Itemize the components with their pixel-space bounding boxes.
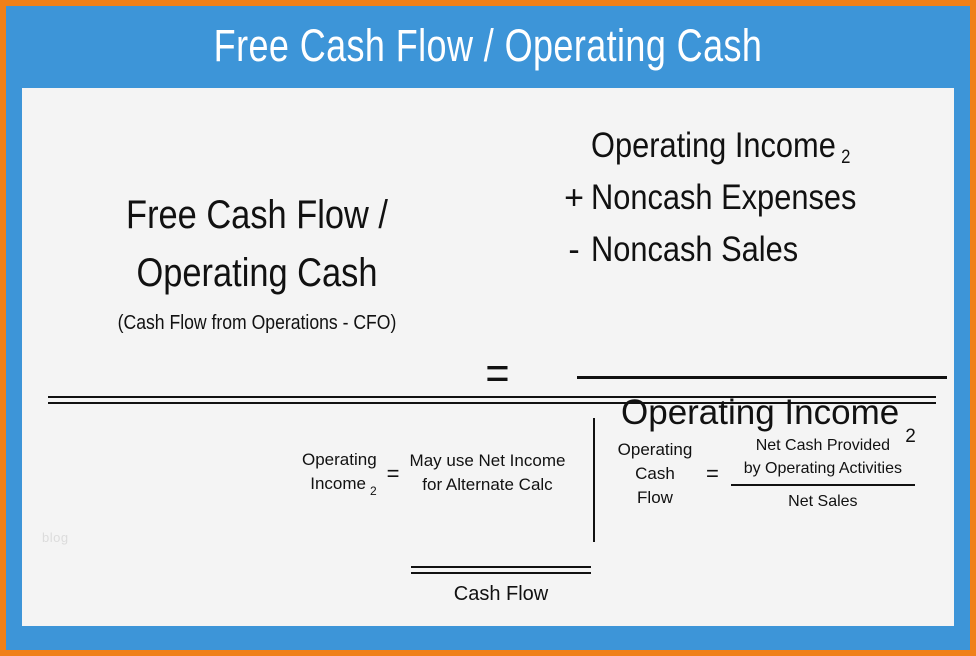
left-label-subtitle: (Cash Flow from Operations - CFO) — [50, 308, 464, 338]
note-operating-cash-flow: Operating Cash Flow = Net Cash Provided … — [616, 434, 915, 513]
note-right-lhs-line3: Flow — [616, 486, 694, 510]
note-left-lhs: Operating Income2 — [302, 448, 377, 497]
note-left-equals-sign: = — [377, 461, 410, 487]
numerator-term: Noncash Expenses — [591, 178, 856, 218]
note-left-rhs-line2: for Alternate Calc — [410, 473, 566, 497]
formula-left-label: Free Cash Flow / Operating Cash (Cash Fl… — [22, 186, 492, 338]
note-left-lhs-line2: Income2 — [302, 472, 377, 497]
note-operating-income: Operating Income2 = May use Net Income f… — [302, 448, 565, 497]
note-right-numerator-line2: by Operating Activities — [731, 457, 915, 480]
note-right-numerator-line1: Net Cash Provided — [731, 434, 915, 457]
note-left-rhs-line1: May use Net Income — [410, 449, 566, 473]
bottom-cash-flow-label: Cash Flow — [411, 580, 591, 608]
blue-frame: Free Cash Flow / Operating Cash Free Cas… — [6, 6, 970, 650]
notes-vertical-divider — [593, 418, 595, 542]
bottom-line-bottom — [411, 572, 591, 574]
main-equals-sign: = — [485, 350, 509, 396]
numerator-row: + Noncash Expenses — [557, 178, 954, 230]
numerator-operator: - — [557, 231, 591, 270]
formula-card: Free Cash Flow / Operating Cash (Cash Fl… — [22, 88, 954, 626]
note-right-lhs: Operating Cash Flow — [616, 438, 694, 510]
note-left-rhs: May use Net Income for Alternate Calc — [410, 449, 566, 497]
section-divider — [48, 396, 936, 404]
note-left-lhs-subscript: 2 — [366, 484, 377, 498]
numerator-term: Operating Income2 — [591, 126, 850, 166]
numerator-row: Operating Income2 — [557, 126, 954, 178]
numerator-subscript: 2 — [836, 147, 851, 168]
poster-frame: Free Cash Flow / Operating Cash Free Cas… — [0, 0, 976, 656]
numerator-operator: + — [557, 179, 591, 218]
watermark: blog — [42, 530, 69, 545]
left-label-line2: Operating Cash — [55, 244, 459, 302]
note-right-equals-sign: = — [694, 461, 731, 487]
note-right-fraction-bar — [731, 484, 915, 486]
numerator-row: - Noncash Sales — [557, 230, 954, 282]
note-right-lhs-line1: Operating — [616, 438, 694, 462]
main-fraction-numerator: Operating Income2 + Noncash Expenses - N… — [557, 126, 954, 282]
note-left-lhs-line1: Operating — [302, 448, 377, 472]
note-right-lhs-line2: Cash — [616, 462, 694, 486]
note-right-denominator: Net Sales — [731, 490, 915, 513]
notes-section: Operating Income2 = May use Net Income f… — [22, 410, 954, 626]
bottom-cash-flow-block: Cash Flow — [411, 566, 591, 608]
note-right-fraction: Net Cash Provided by Operating Activitie… — [731, 434, 915, 513]
page-title: Free Cash Flow / Operating Cash — [102, 20, 873, 72]
divider-line-bottom — [48, 402, 936, 404]
left-label-line1: Free Cash Flow / — [55, 186, 459, 244]
numerator-term: Noncash Sales — [591, 230, 798, 270]
main-fraction-bar — [577, 376, 947, 379]
